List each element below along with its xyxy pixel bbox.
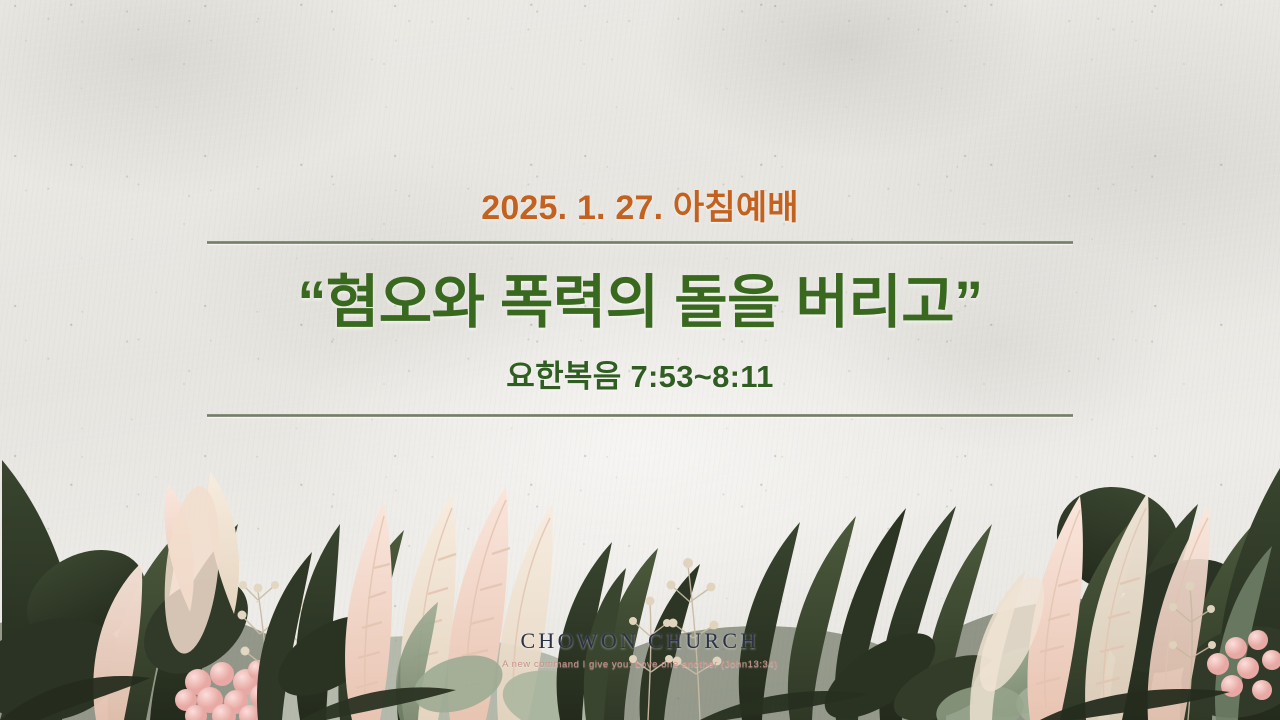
divider-rule-bottom	[207, 414, 1073, 417]
church-name: CHOWON CHURCH	[0, 628, 1280, 654]
worship-title-slide: 2025. 1. 27. 아침예배 “혐오와 폭력의 돌을 버리고” 요한복음 …	[0, 0, 1280, 720]
service-date: 2025. 1. 27. 아침예배	[0, 186, 1280, 230]
scripture-reference: 요한복음 7:53~8:11	[0, 356, 1280, 398]
title-block: 2025. 1. 27. 아침예배 “혐오와 폭력의 돌을 버리고” 요한복음 …	[0, 186, 1280, 417]
church-logo: CHOWON CHURCH A new command I give you: …	[0, 628, 1280, 672]
sermon-title: “혐오와 폭력의 돌을 버리고”	[0, 264, 1280, 342]
foliage-cluster-left	[0, 460, 287, 720]
dried-floral-arrangement	[0, 420, 1280, 720]
divider-rule-top	[207, 241, 1073, 244]
foliage-illustration	[0, 420, 1280, 720]
church-tagline: A new command I give you: Love one anoth…	[0, 658, 1280, 672]
